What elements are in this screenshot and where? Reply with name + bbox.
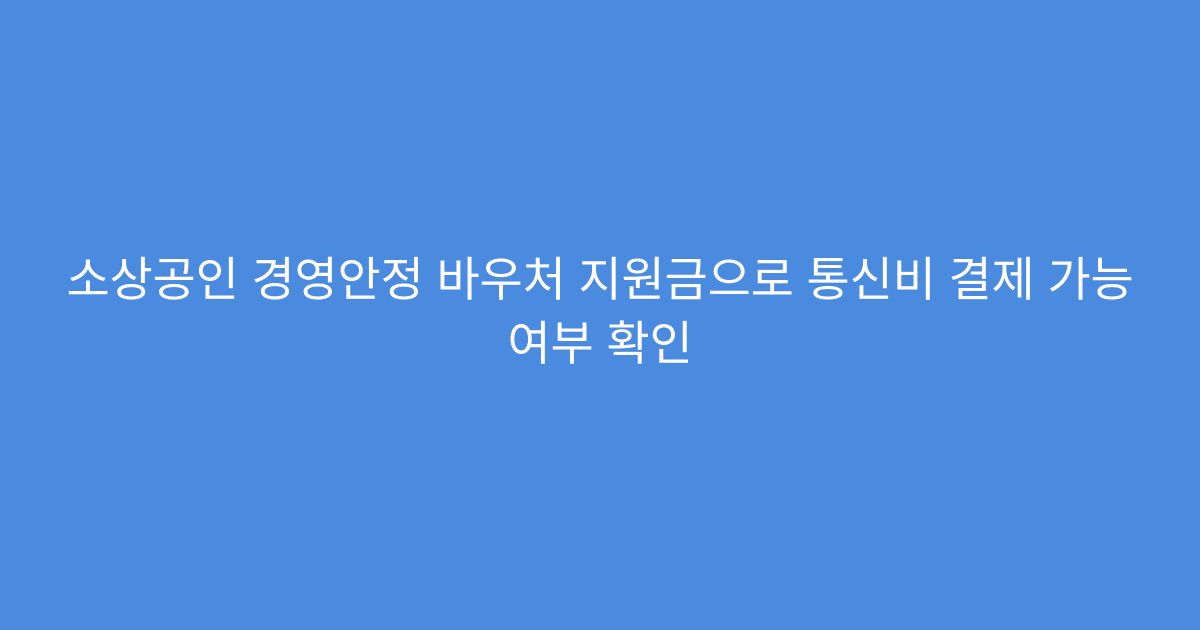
page-title: 소상공인 경영안정 바우처 지원금으로 통신비 결제 가능 여부 확인 [58, 248, 1142, 376]
og-card-canvas: 소상공인 경영안정 바우처 지원금으로 통신비 결제 가능 여부 확인 [0, 0, 1200, 630]
headline-block: 소상공인 경영안정 바우처 지원금으로 통신비 결제 가능 여부 확인 [0, 248, 1200, 376]
